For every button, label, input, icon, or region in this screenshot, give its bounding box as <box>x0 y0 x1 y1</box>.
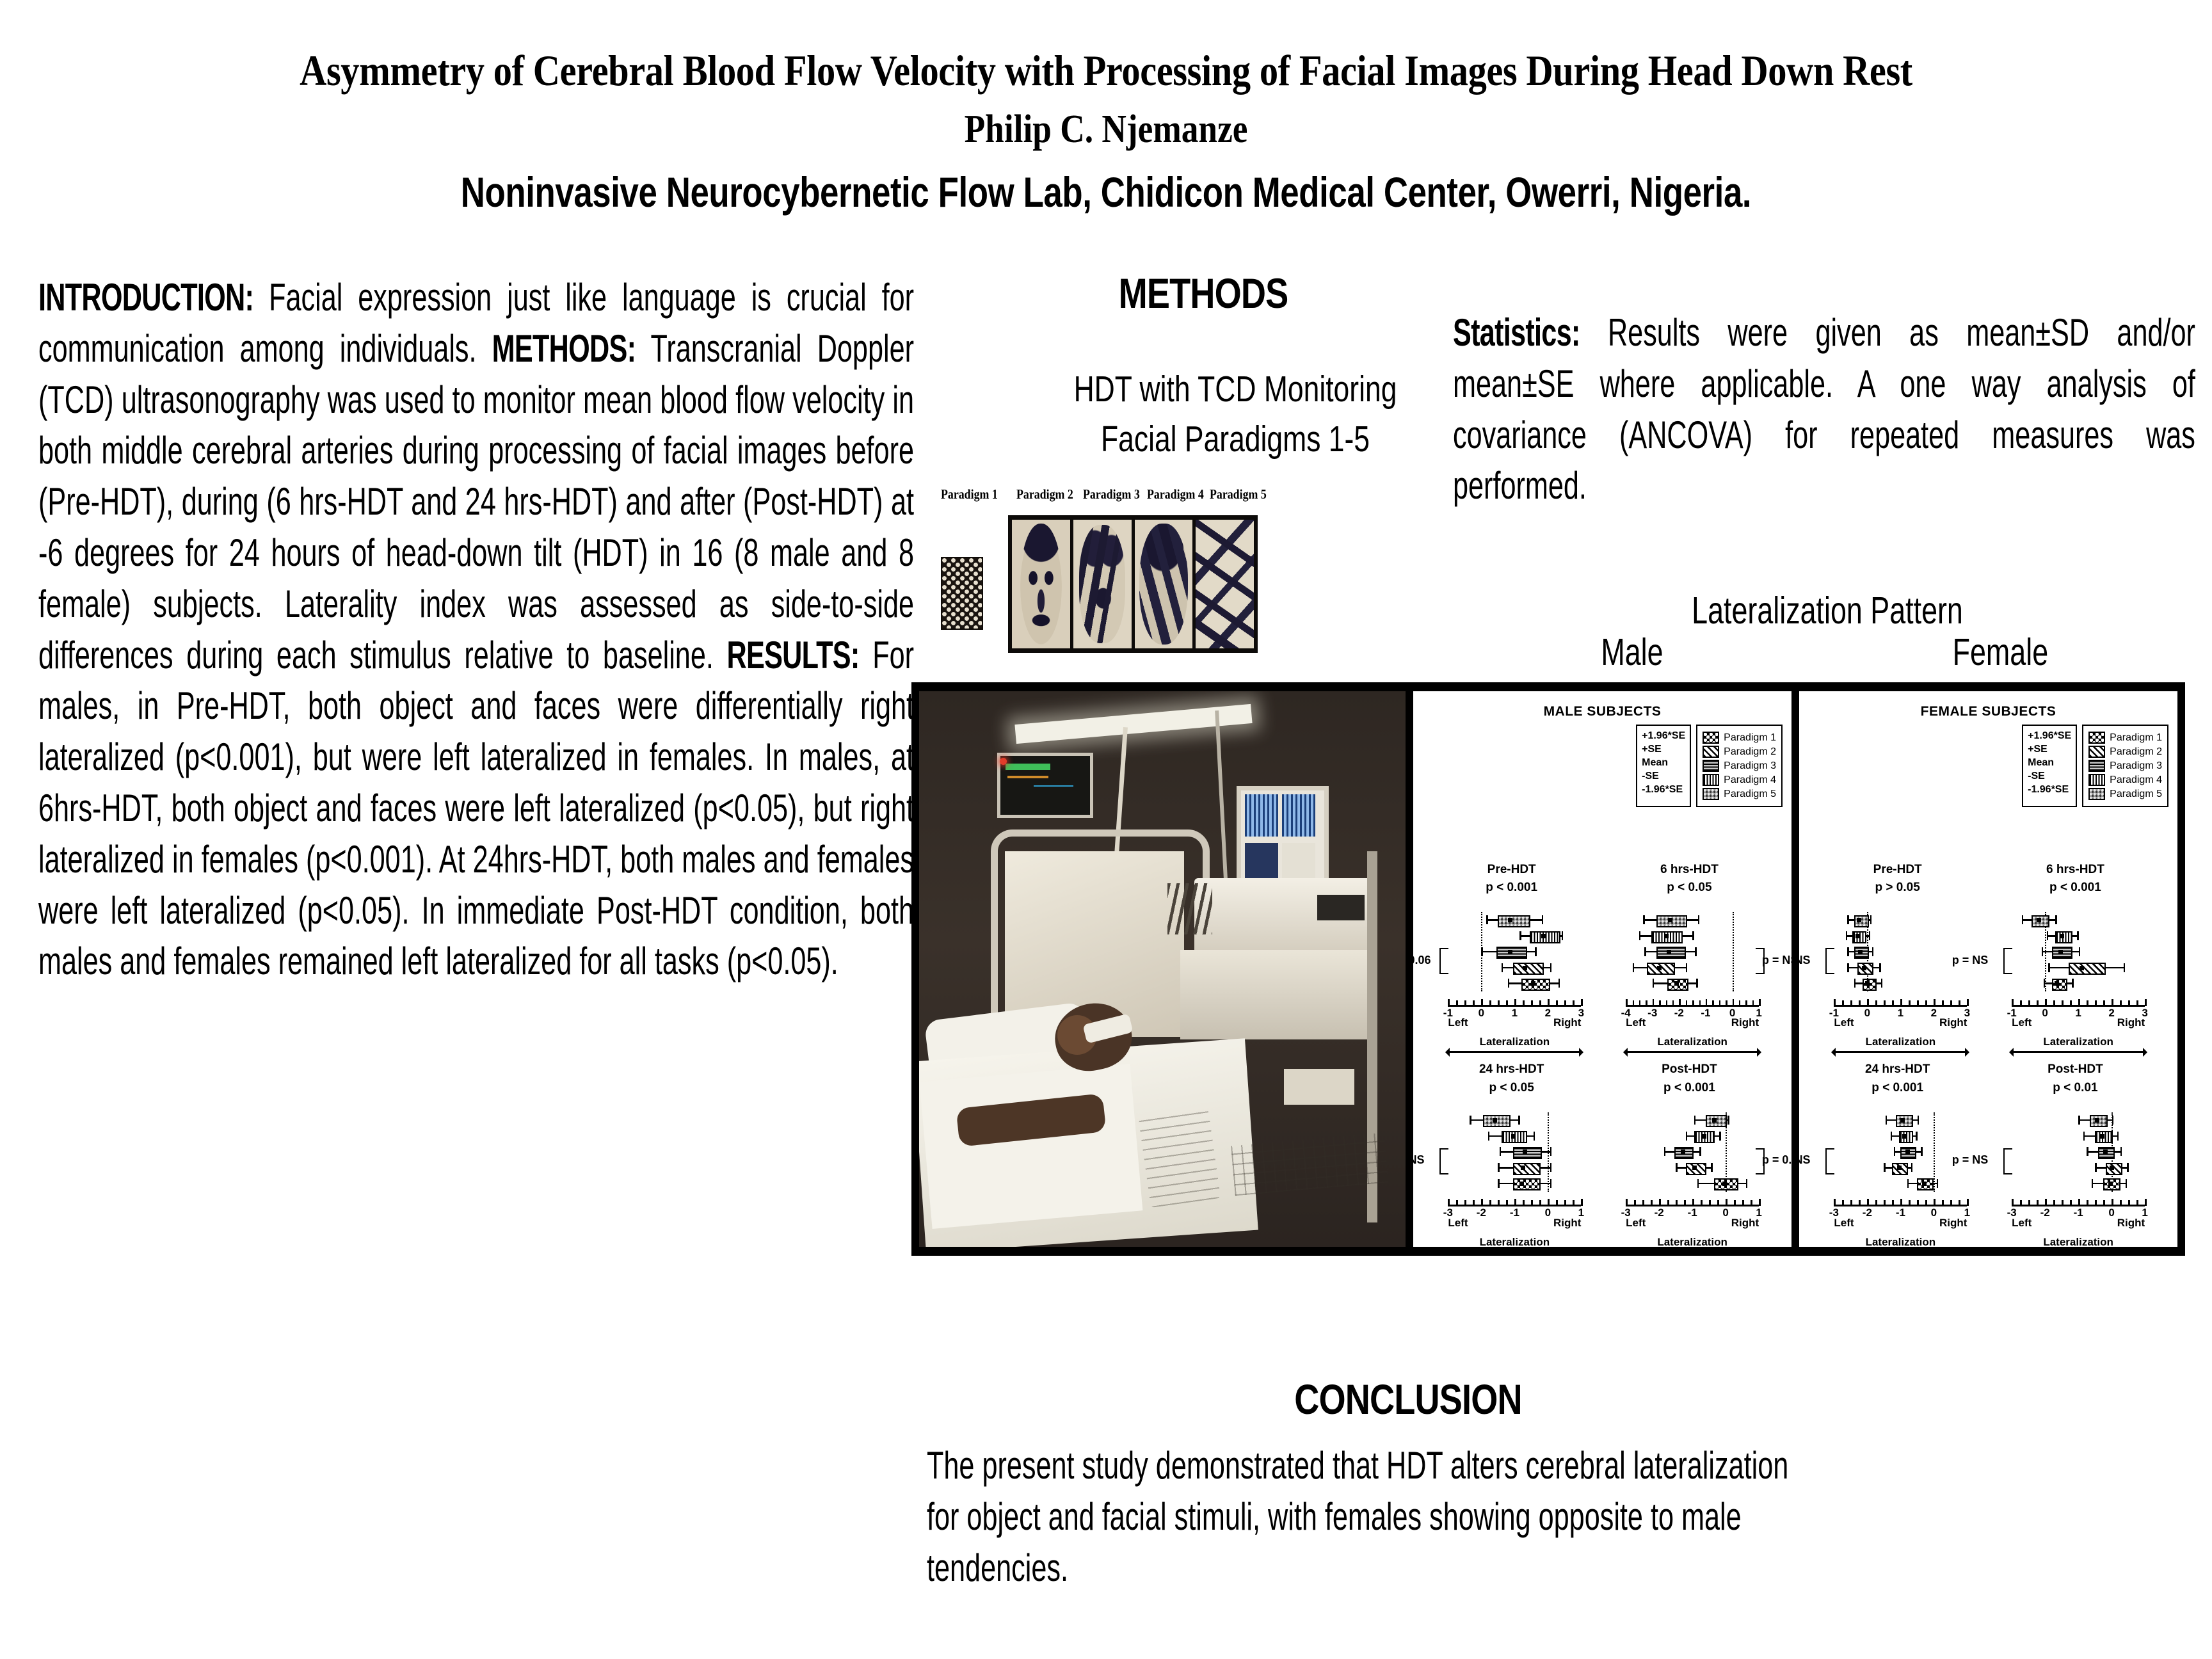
photo-tcd-cart-base <box>1180 950 1372 1039</box>
axis-tick-minor <box>1531 1000 1533 1005</box>
axis-tick-major <box>1834 999 1836 1006</box>
box-paradigm-1 <box>2052 979 2068 991</box>
hdt-caption: HDT with TCD Monitoring Facial Paradigms… <box>996 365 1475 464</box>
se-legend-item-1: +SE <box>1642 742 1685 756</box>
paradigm-legend-box: Paradigm 1Paradigm 2Paradigm 3Paradigm 4… <box>1696 725 1783 807</box>
subpanel-pvalue: p > 0.05 <box>1822 879 1973 897</box>
paradigm-legend-label-2: Paradigm 2 <box>1724 747 1776 757</box>
mean-marker <box>2103 1150 2108 1154</box>
axis-tick-major <box>1448 999 1450 1006</box>
paradigm-legend-label-1: Paradigm 1 <box>2110 733 2162 743</box>
axis-tick-minor <box>1666 1000 1668 1005</box>
axis-tick-major <box>1581 1199 1583 1206</box>
boxplot-row <box>2000 914 2151 926</box>
boxplot-row <box>2000 1114 2151 1126</box>
axis-tick-major <box>2045 999 2047 1006</box>
axis-tick-minor <box>1456 1000 1458 1005</box>
boxplot-row <box>1822 1114 1973 1126</box>
axis-left-label: Left <box>1626 1217 1646 1230</box>
axis-tick-minor <box>1642 1200 1644 1205</box>
axis-tick-minor <box>1498 1000 1500 1005</box>
axis-title: Lateralization <box>2012 1036 2145 1048</box>
axis-tick-major <box>2145 999 2147 1006</box>
axis-tick-major <box>1967 1199 1969 1206</box>
mean-marker <box>1897 1166 1902 1170</box>
whisker-cap-low <box>1488 1132 1490 1141</box>
axis-tick-minor <box>1573 1000 1575 1005</box>
axis-tick-minor <box>1742 1200 1744 1205</box>
mean-marker <box>2055 981 2059 986</box>
whisker-cap-low <box>1847 963 1849 972</box>
axis-tick-minor <box>1925 1000 1927 1005</box>
statistics-paragraph: Statistics: Results were given as mean±S… <box>1453 307 2195 511</box>
axis-right-label: Right <box>2117 1217 2145 1230</box>
axis-tick-minor <box>1959 1000 1960 1005</box>
boxplot-row <box>1436 930 1587 942</box>
axis-direction-labels: LeftRight <box>1834 1217 1967 1230</box>
axis-tick-minor <box>2087 1000 2088 1005</box>
paradigm-legend-label-3: Paradigm 3 <box>2110 761 2162 771</box>
axis-tick-minor <box>1646 1000 1647 1005</box>
subpanel-pvalue: p < 0.05 <box>1436 1079 1587 1098</box>
axis-title: Lateralization <box>1626 1236 1759 1247</box>
axis-tick-minor <box>1676 1200 1678 1205</box>
box-paradigm-2 <box>2069 963 2106 975</box>
axis-tick-major <box>1548 999 1550 1006</box>
axis-tick-minor <box>1892 1000 1894 1005</box>
axis-tick-minor <box>2037 1000 2039 1005</box>
whisker-cap-high <box>1746 1179 1748 1188</box>
subpanel-name: Post-HDT <box>2000 1061 2151 1079</box>
whisker-cap-low <box>1498 1163 1500 1172</box>
axis-tick-minor <box>1917 1000 1919 1005</box>
se-legend-item-2: Mean <box>2028 756 2071 769</box>
affiliation: Noninvasive Neurocybernetic Flow Lab, Ch… <box>221 168 1991 216</box>
axis-tick-major <box>2078 1199 2080 1206</box>
axis-tick-minor <box>2136 1200 2138 1205</box>
axis-tick-major <box>1867 999 1869 1006</box>
photo-response-keypad <box>1139 1109 1221 1208</box>
axis-tick-minor <box>1709 1200 1711 1205</box>
axis-tick-minor <box>2128 1200 2130 1205</box>
boxplot-row <box>2000 962 2151 974</box>
subpanel-title: 24 hrs-HDTp < 0.001 <box>1822 1061 1973 1097</box>
whisker-cap-low <box>1486 915 1488 924</box>
axis-tick-minor <box>1909 1000 1911 1005</box>
axis-double-arrow-icon <box>1834 1051 1967 1053</box>
whisker-cap-high <box>1550 1163 1552 1172</box>
axis-title-text: Lateralization <box>2043 1236 2113 1247</box>
box-paradigm-5 <box>1498 915 1530 927</box>
mean-marker <box>1722 1182 1727 1186</box>
whisker-cap-high <box>2077 931 2079 940</box>
subpanel-title: Post-HDTp < 0.01 <box>2000 1061 2151 1097</box>
boxplot-row <box>1436 1162 1587 1173</box>
paradigm-legend-row-1: Paradigm 1 <box>1703 732 1776 744</box>
axis-tick-minor <box>1489 1000 1491 1005</box>
se-legend-box: +1.96*SE+SEMean-SE-1.96*SE <box>2022 725 2077 807</box>
axis-tick-minor <box>1884 1200 1886 1205</box>
whisker-cap-low <box>1633 963 1635 972</box>
photo-monitor-led <box>1000 758 1007 765</box>
hdt-caption-line1: HDT with TCD Monitoring <box>996 365 1475 415</box>
whisker-cap-high <box>1869 931 1871 940</box>
whisker-cap-low <box>2095 1163 2097 1172</box>
boxplot-row <box>1822 946 1973 958</box>
axis-tick-minor <box>1651 1200 1653 1205</box>
axis-title-text: Lateralization <box>1866 1236 1936 1247</box>
box-paradigm-5 <box>1854 915 1870 927</box>
mean-marker <box>1865 981 1870 986</box>
boxplot-row <box>1822 1130 1973 1142</box>
whisker-cap-low <box>1519 931 1521 940</box>
box-paradigm-2 <box>1513 1163 1541 1175</box>
boxplot-row <box>1822 1162 1973 1173</box>
paradigm-legend-label-4: Paradigm 4 <box>1724 775 1776 785</box>
axis-tick-major <box>1834 1199 1836 1206</box>
whisker-cap-low <box>2078 1116 2080 1125</box>
se-legend-item-0: +1.96*SE <box>1642 729 1685 742</box>
axis-tick-minor <box>1917 1200 1919 1205</box>
paradigm-5-label: Paradigm 5 <box>1210 486 1267 502</box>
boxplot-row <box>1614 930 1765 942</box>
axis-tick-minor <box>1464 1200 1466 1205</box>
whisker-cap-low <box>1508 979 1510 988</box>
whisker-cap-low <box>1644 947 1646 956</box>
axis-tick-minor <box>1659 1000 1661 1005</box>
axis-tick-minor <box>1564 1200 1566 1205</box>
axis-tick-minor <box>2062 1000 2064 1005</box>
whisker-cap-low <box>1470 1116 1471 1125</box>
mean-marker <box>1523 966 1527 970</box>
axis-tick-minor <box>1942 1200 1944 1205</box>
axis-tick-minor <box>1672 1000 1674 1005</box>
axis-tick-minor <box>1692 1000 1694 1005</box>
methods-label: METHODS: <box>492 327 636 370</box>
axis-tick-major <box>2112 1199 2113 1206</box>
paradigm-3-swatch-icon <box>1703 760 1719 772</box>
boxplot-row <box>1436 977 1587 989</box>
boxplot-row <box>1436 962 1587 974</box>
subpanel-post-hdt: Post-HDTp < 0.01p = NS-3-2-101LeftRightL… <box>2000 1061 2151 1233</box>
boxplot-row <box>1822 1146 1973 1157</box>
mean-marker <box>2060 934 2064 938</box>
paradigm-legend-row-4: Paradigm 4 <box>2088 774 2162 786</box>
axis-direction-labels: LeftRight <box>1834 1016 1967 1029</box>
axis-tick-minor <box>1959 1200 1960 1205</box>
axis-left-label: Left <box>2012 1016 2032 1029</box>
whisker-cap-high <box>1937 1179 1939 1188</box>
subpanel-title: 6 hrs-HDTp < 0.001 <box>2000 861 2151 897</box>
whisker-cap-low <box>2048 963 2050 972</box>
paradigm-5-scrambled-image <box>1196 520 1254 648</box>
chart-legend: +1.96*SE+SEMean-SE-1.96*SEParadigm 1Para… <box>1636 725 1783 807</box>
boxplot-row <box>1436 946 1587 958</box>
whisker-cap-low <box>1664 1147 1666 1156</box>
boxplot-row <box>1614 977 1765 989</box>
methods-text: Transcranial Doppler (TCD) ultrasonograp… <box>38 327 914 677</box>
subpanel-name: Pre-HDT <box>1436 861 1587 879</box>
significance-bracket <box>1439 1148 1448 1174</box>
axis-tick-minor <box>1531 1200 1533 1205</box>
significance-bracket <box>1439 948 1448 974</box>
axis-left-label: Left <box>1834 1016 1854 1029</box>
box-paradigm-1 <box>1513 1178 1541 1190</box>
paradigm-legend-label-5: Paradigm 5 <box>2110 789 2162 799</box>
axis-title: Lateralization <box>1448 1236 1581 1247</box>
axis-left-label: Left <box>1448 1016 1468 1029</box>
axis-tick-minor <box>1850 1000 1852 1005</box>
boxplot-row <box>1822 930 1973 942</box>
mean-marker <box>1674 981 1679 986</box>
boxplot-row <box>1436 1178 1587 1189</box>
axis-line <box>1626 1005 1759 1007</box>
whisker-cap-high <box>1918 1116 1919 1125</box>
paradigm-1-checkerboard-image <box>941 557 983 630</box>
se-legend-item-4: -1.96*SE <box>2028 783 2071 796</box>
axis-tick-minor <box>1539 1200 1541 1205</box>
axis-tick-major <box>1900 1199 1902 1206</box>
paradigm-2-face-image <box>1012 520 1070 648</box>
subpanel-24-hrs-hdt: 24 hrs-HDTp < 0.05p = NS-3-2-101LeftRigh… <box>1436 1061 1587 1233</box>
conclusion-text: The present study demonstrated that HDT … <box>927 1440 1811 1593</box>
mean-marker <box>1712 1118 1717 1123</box>
axis-tick-major <box>1448 1199 1450 1206</box>
axis-tick-minor <box>1739 1000 1741 1005</box>
axis-right-label: Right <box>1731 1217 1759 1230</box>
poster-header: Asymmetry of Cerebral Blood Flow Velocit… <box>0 0 2212 216</box>
se-legend-item-3: -SE <box>1642 769 1685 783</box>
axis-right-label: Right <box>1731 1016 1759 1029</box>
se-legend-box: +1.96*SE+SEMean-SE-1.96*SE <box>1636 725 1691 807</box>
axis-tick-major <box>1934 1199 1935 1206</box>
axis-tick-minor <box>1639 1000 1641 1005</box>
subpanel-title: Pre-HDTp < 0.001 <box>1436 861 1587 897</box>
axis-tick-minor <box>1875 1000 1877 1005</box>
whisker-cap-low <box>1502 963 1503 972</box>
axis-tick-minor <box>1667 1200 1669 1205</box>
axis-tick-major <box>2045 1199 2047 1206</box>
axis-tick-minor <box>2053 1200 2055 1205</box>
axis-tick-major <box>1733 999 1735 1006</box>
axis-title: Lateralization <box>2012 1236 2145 1247</box>
axis-tick-major <box>1967 999 1969 1006</box>
plot-area: p = NS <box>1822 912 1973 991</box>
bracket-pvalue-label: p = NS <box>1762 954 1791 967</box>
mean-marker <box>1519 1182 1524 1186</box>
axis-tick-minor <box>1942 1000 1944 1005</box>
whisker-cap-low <box>2083 1132 2085 1141</box>
paradigm-legend-row-1: Paradigm 1 <box>2088 732 2162 744</box>
axis-tick-minor <box>1875 1200 1877 1205</box>
bracket-pvalue-label: p = NS <box>1413 1153 1425 1167</box>
photo-tcd-probe-cables <box>1167 883 1212 934</box>
hdt-tcd-photo <box>919 691 1406 1247</box>
axis-tick-major <box>1759 999 1761 1006</box>
sex-label-row: Male Female <box>1459 630 2195 674</box>
whisker-cap-high <box>2055 915 2057 924</box>
axis-title: Lateralization <box>1834 1236 1967 1247</box>
axis-direction-labels: LeftRight <box>1448 1217 1581 1230</box>
whisker-cap-high <box>1711 1163 1713 1172</box>
whisker-cap-high <box>1534 1132 1535 1141</box>
paradigm-1-label: Paradigm 1 <box>941 486 998 502</box>
paradigm-legend-row-4: Paradigm 4 <box>1703 774 1776 786</box>
mean-marker <box>1905 1150 1910 1154</box>
whisker-cap-low <box>1481 947 1483 956</box>
conclusion-heading: CONCLUSION <box>1146 1375 1671 1423</box>
whisker-cap-high <box>1686 963 1688 972</box>
whisker-cap-high <box>1727 1116 1729 1125</box>
whisker-cap-low <box>1694 1116 1696 1125</box>
axis-tick-major <box>1481 999 1483 1006</box>
axis-tick-minor <box>1456 1200 1458 1205</box>
subpanel-name: 6 hrs-HDT <box>2000 861 2151 879</box>
mean-marker <box>2037 918 2041 922</box>
paradigm-legend-label-4: Paradigm 4 <box>2110 775 2162 785</box>
axis-tick-minor <box>1884 1000 1886 1005</box>
female-subjects-chart: FEMALE SUBJECTS+1.96*SE+SEMean-SE-1.96*S… <box>1799 691 2177 1247</box>
axis-left-label: Left <box>2012 1217 2032 1230</box>
paradigm-1-swatch-icon <box>2088 732 2105 744</box>
boxplot-row <box>2000 1146 2151 1157</box>
introduction-label: INTRODUCTION: <box>38 276 253 319</box>
bracket-pvalue-label: p = NS <box>1799 1153 1811 1167</box>
axis-tick-minor <box>2095 1000 2097 1005</box>
significance-bracket <box>2003 1148 2012 1174</box>
boxplot-row <box>2000 1178 2151 1189</box>
whisker-cap-low <box>1891 1132 1893 1141</box>
whisker-cap-high <box>1911 1163 1913 1172</box>
subpanel-6-hrs-hdt: 6 hrs-HDTp < 0.001p = NS-10123LeftRightL… <box>2000 861 2151 1033</box>
paradigm-1-swatch-icon <box>1703 732 1719 744</box>
whisker-cap-high <box>1698 915 1700 924</box>
paradigm-5-swatch-icon <box>2088 788 2105 800</box>
subpanel-pvalue: p < 0.001 <box>2000 879 2151 897</box>
axis-tick-major <box>1659 1199 1661 1206</box>
paradigm-label-row: Paradigm 1 Paradigm 2 Paradigm 3 Paradig… <box>941 486 1325 506</box>
mean-marker <box>1692 1166 1697 1170</box>
axis-direction-labels: LeftRight <box>1626 1217 1759 1230</box>
paradigm-faces-strip <box>1008 515 1258 653</box>
plot-area: p = NS <box>2000 1112 2151 1192</box>
whisker-cap-high <box>1550 1179 1552 1188</box>
whisker-cap-high <box>1562 931 1564 940</box>
subpanel-name: 6 hrs-HDT <box>1614 861 1765 879</box>
whisker-cap-low <box>1676 1163 1678 1172</box>
axis-tick-minor <box>1909 1200 1911 1205</box>
mean-marker <box>1541 934 1546 938</box>
boxplot-row <box>1822 914 1973 926</box>
whisker-cap-low <box>1686 1132 1688 1141</box>
axis-tick-minor <box>1850 1200 1852 1205</box>
whisker-cap-high <box>1559 979 1560 988</box>
axis-tick-major <box>1481 1199 1483 1206</box>
photo-tcd-controls <box>1317 895 1365 920</box>
whisker-cap-high <box>1870 915 1872 924</box>
axis-tick-major <box>1653 999 1655 1006</box>
whisker-cap-low <box>2022 915 2024 924</box>
axis-right-label: Right <box>1553 1217 1581 1230</box>
axis-tick-major <box>1867 1199 1869 1206</box>
paradigm-legend-row-2: Paradigm 2 <box>1703 746 1776 758</box>
mean-marker <box>1523 1150 1527 1154</box>
whisker-cap-high <box>1699 1147 1701 1156</box>
axis-direction-labels: LeftRight <box>2012 1016 2145 1029</box>
results-text: For males, in Pre-HDT, both object and f… <box>38 634 914 983</box>
plot-area: p = NS <box>2000 912 2151 991</box>
mean-marker <box>1664 934 1669 938</box>
se-legend-item-4: -1.96*SE <box>1642 783 1685 796</box>
paradigm-legend-row-3: Paradigm 3 <box>1703 760 1776 772</box>
axis-tick-minor <box>2120 1200 2122 1205</box>
axis-tick-major <box>2012 999 2014 1006</box>
paradigm-2-swatch-icon <box>1703 746 1719 758</box>
axis-tick-major <box>2078 999 2080 1006</box>
paradigm-legend-label-3: Paradigm 3 <box>1724 761 1776 771</box>
plot-area: p = NS <box>1614 912 1765 991</box>
axis-tick-minor <box>2037 1200 2039 1205</box>
whisker-cap-high <box>2079 947 2081 956</box>
axis-direction-labels: LeftRight <box>1448 1016 1581 1029</box>
subpanel-6-hrs-hdt: 6 hrs-HDTp < 0.05p = NS-4-3-2-101LeftRig… <box>1614 861 1765 1033</box>
paradigm-legend-label-5: Paradigm 5 <box>1724 789 1776 799</box>
whisker-cap-low <box>1854 979 1856 988</box>
subpanel-pvalue: p < 0.05 <box>1614 879 1765 897</box>
mean-marker <box>2100 1134 2104 1139</box>
boxplot-row <box>1436 1114 1587 1126</box>
axis-tick-minor <box>1726 1000 1727 1005</box>
mean-marker <box>1508 950 1512 954</box>
axis-tick-minor <box>1712 1000 1714 1005</box>
paradigm-4-label: Paradigm 4 <box>1147 486 1204 502</box>
mean-marker <box>2110 1166 2114 1170</box>
mean-marker <box>1858 950 1863 954</box>
axis-right-label: Right <box>1939 1016 1967 1029</box>
axis-title-text: Lateralization <box>1657 1036 1727 1048</box>
axis-tick-minor <box>1634 1200 1636 1205</box>
whisker-cap-high <box>1550 963 1552 972</box>
whisker-cap-high <box>2126 1179 2128 1188</box>
axis-tick-major <box>1514 999 1516 1006</box>
axis-tick-major <box>1548 1199 1550 1206</box>
whisker-cap-low <box>1846 931 1848 940</box>
mean-marker <box>2058 950 2063 954</box>
whisker-cap-high <box>2072 979 2074 988</box>
whisker-cap-high <box>1879 963 1881 972</box>
axis-tick-minor <box>2028 1200 2030 1205</box>
subpanel-name: Post-HDT <box>1614 1061 1765 1079</box>
female-label: Female <box>1953 630 2049 674</box>
box-paradigm-3 <box>1513 1147 1543 1159</box>
axis-direction-labels: LeftRight <box>1626 1016 1759 1029</box>
subpanel-name: Pre-HDT <box>1822 861 1973 879</box>
axis-tick-minor <box>2136 1000 2138 1005</box>
axis-tick-minor <box>1950 1200 1952 1205</box>
subpanel-pvalue: p < 0.001 <box>1614 1079 1765 1098</box>
hdt-caption-line2: Facial Paradigms 1-5 <box>996 415 1475 465</box>
bracket-pvalue-label: p = NS <box>1952 1153 1989 1167</box>
boxplot-row <box>1614 1114 1765 1126</box>
subpanel-name: 24 hrs-HDT <box>1822 1061 1973 1079</box>
subpanel-pvalue: p < 0.001 <box>1822 1079 1973 1098</box>
paradigm-legend-label-1: Paradigm 1 <box>1724 733 1776 743</box>
significance-bracket <box>1825 1148 1834 1174</box>
paradigm-5-swatch-icon <box>1703 788 1719 800</box>
axis-title-text: Lateralization <box>2043 1036 2113 1048</box>
mean-marker <box>1862 966 1866 970</box>
paradigm-figure: Paradigm 1 Paradigm 2 Paradigm 3 Paradig… <box>941 486 1325 666</box>
